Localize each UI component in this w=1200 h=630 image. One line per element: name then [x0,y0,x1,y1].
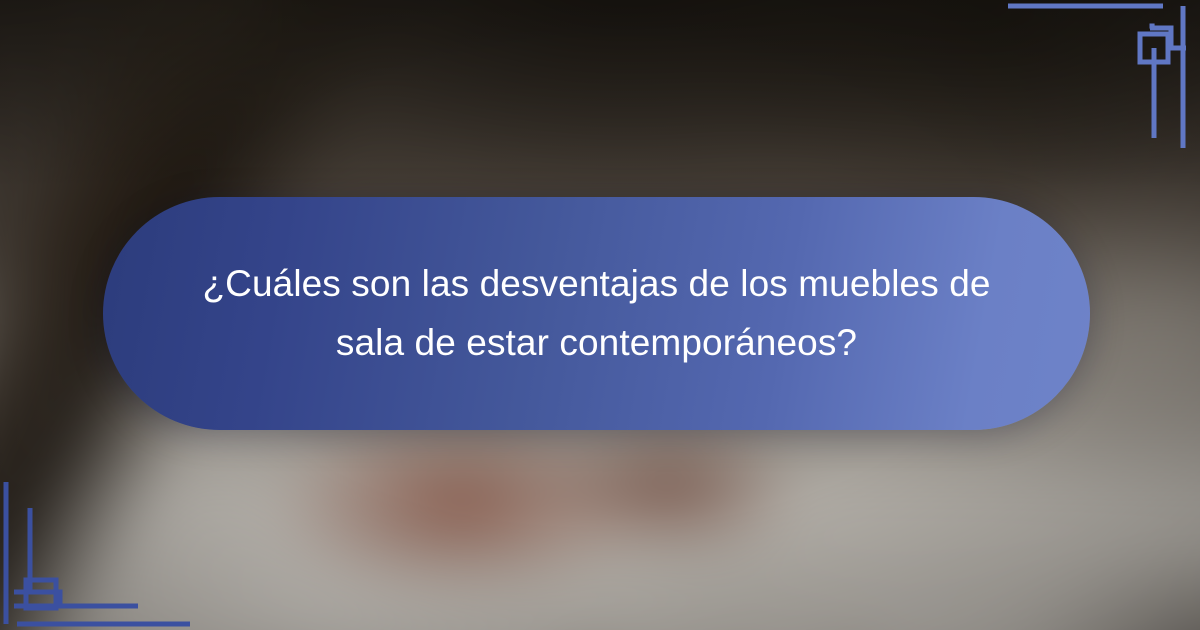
question-text: ¿Cuáles son las desventajas de los muebl… [157,255,1037,372]
social-card-canvas: ¿Cuáles son las desventajas de los muebl… [0,0,1200,630]
corner-bracket-top-right-icon [1000,0,1200,150]
question-card: ¿Cuáles son las desventajas de los muebl… [103,197,1090,430]
corner-bracket-bottom-left-icon [0,480,200,630]
corner-decoration-top-right [1000,0,1200,150]
corner-decoration-bottom-left [0,480,200,630]
